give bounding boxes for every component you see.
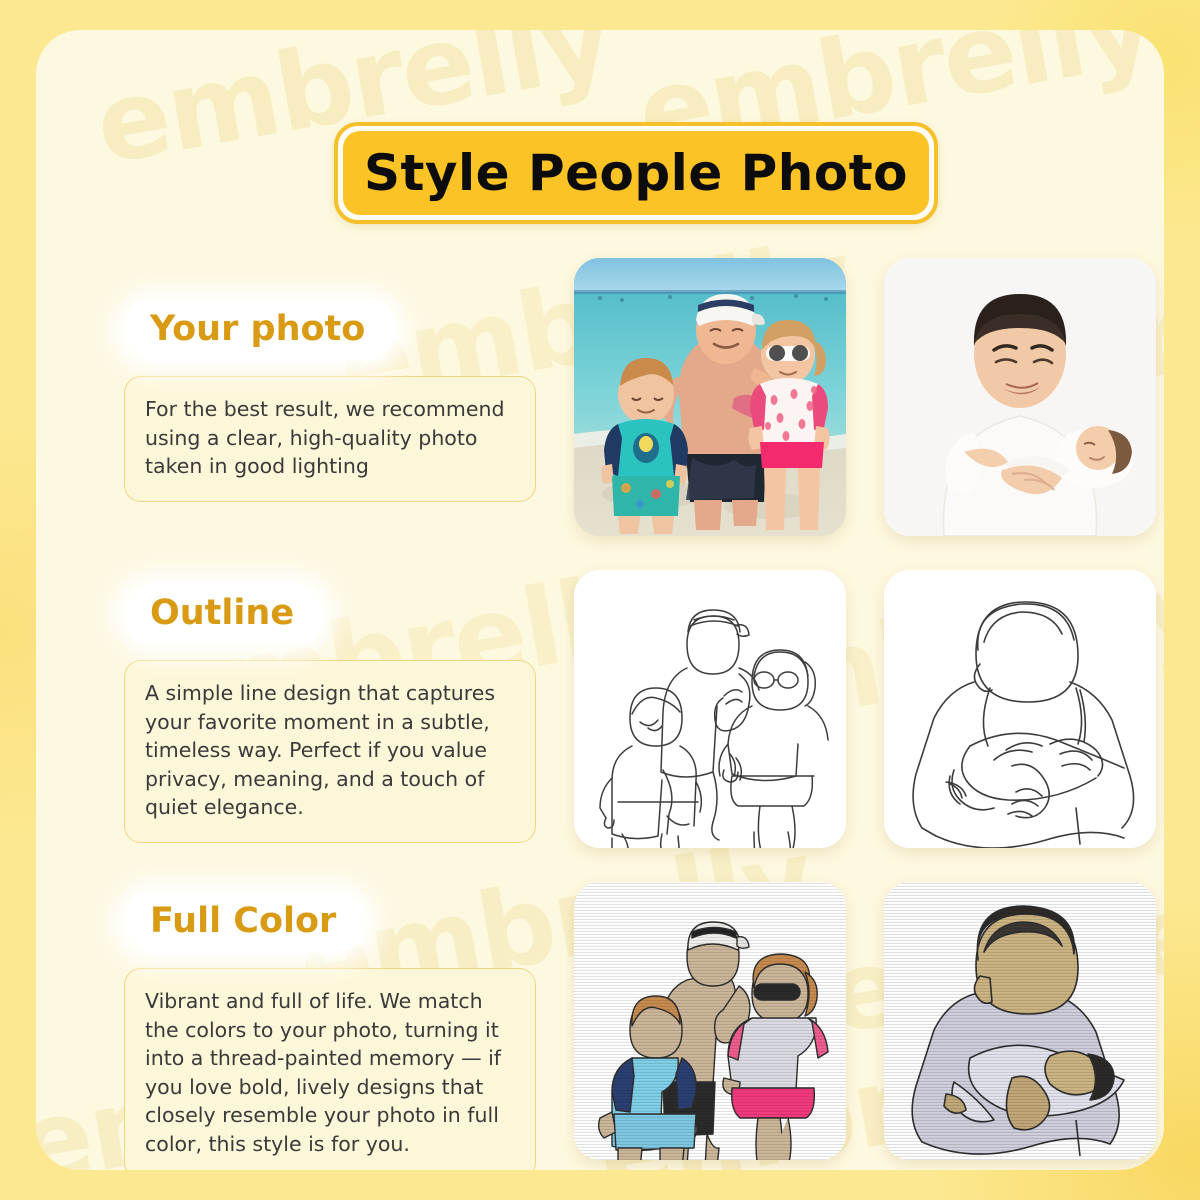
page-title: Style People Photo	[364, 144, 908, 202]
section-body-full-color: Vibrant and full of life. We match the c…	[145, 987, 515, 1158]
section-card-full-color: Vibrant and full of life. We match the c…	[124, 968, 536, 1170]
section-body-outline: A simple line design that captures your …	[145, 679, 515, 822]
section-heading-outline: Outline	[124, 584, 324, 644]
section-heading-your-photo: Your photo	[124, 300, 395, 360]
father-newborn-outline[interactable]	[884, 570, 1156, 848]
father-newborn-photo[interactable]	[884, 258, 1156, 536]
beach-family-outline[interactable]	[574, 570, 846, 848]
father-newborn-full-color[interactable]	[884, 882, 1156, 1160]
section-heading-full-color: Full Color	[124, 892, 366, 952]
beach-family-photo[interactable]	[574, 258, 846, 536]
section-body-your-photo: For the best result, we recommend using …	[145, 395, 515, 481]
section-full-color: Full Color Vibrant and full of life. We …	[124, 892, 536, 1170]
section-your-photo: Your photo For the best result, we recom…	[124, 300, 536, 502]
content-panel: embrelly embrelly embrelly embrelly embr…	[36, 30, 1164, 1170]
section-card-outline: A simple line design that captures your …	[124, 660, 536, 843]
title-banner-inner: Style People Photo	[343, 131, 929, 215]
poster-page: embrelly embrelly embrelly embrelly embr…	[0, 0, 1200, 1200]
section-card-your-photo: For the best result, we recommend using …	[124, 376, 536, 502]
section-outline: Outline A simple line design that captur…	[124, 584, 536, 843]
beach-family-full-color[interactable]	[574, 882, 846, 1160]
title-banner: Style People Photo	[334, 122, 938, 224]
